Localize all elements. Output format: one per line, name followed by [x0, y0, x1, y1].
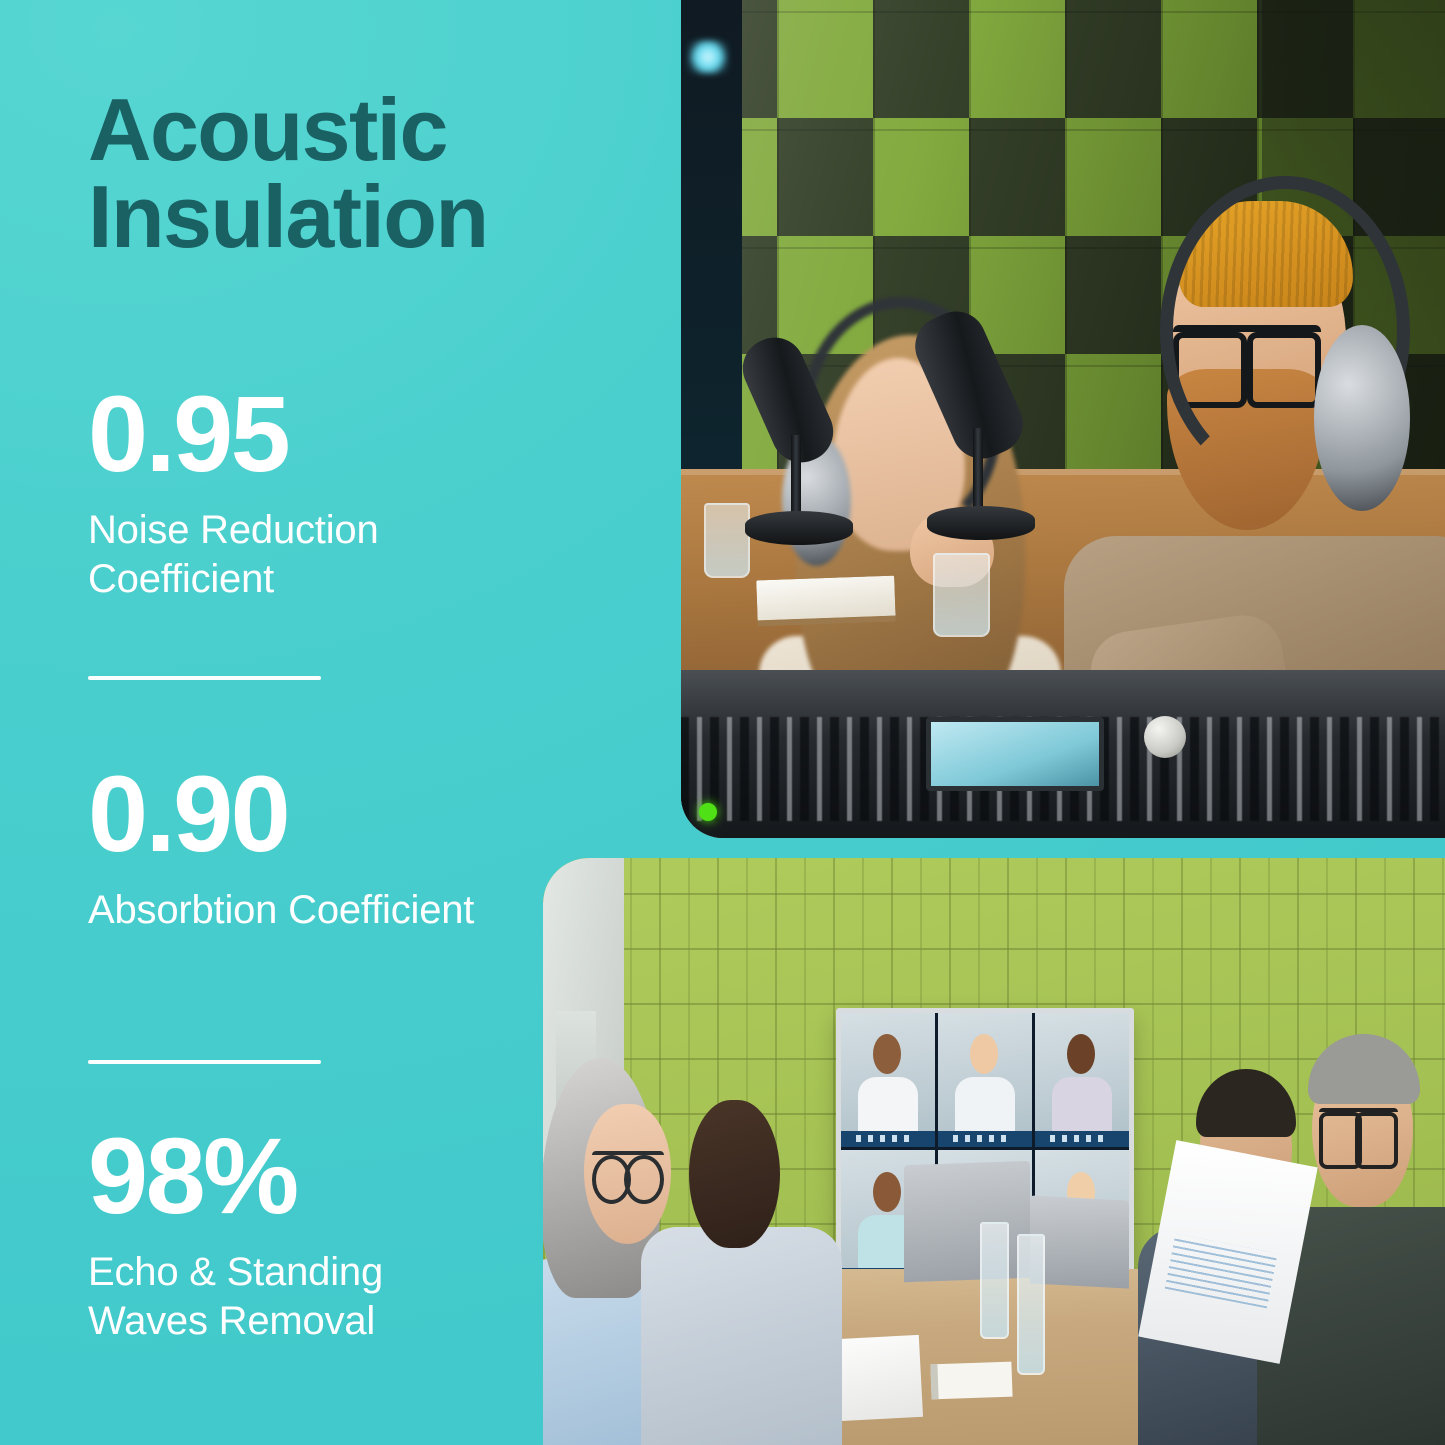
stat-block-noise-reduction: 0.95 Noise Reduction Coefficient [88, 380, 628, 604]
attendee-man-dark-hair [660, 1093, 822, 1445]
water-glass-left [704, 503, 750, 578]
video-call-tile [1035, 1013, 1129, 1147]
stat-label-absorption: Absorbtion Coefficient [88, 886, 508, 935]
divider-line-2 [88, 1060, 321, 1064]
video-tile-toolbar [938, 1131, 1032, 1147]
neon-light-icon [687, 40, 729, 74]
mixing-console [681, 670, 1445, 838]
participant-head [1067, 1034, 1095, 1074]
participant-head [873, 1172, 901, 1212]
stat-value-noise-reduction: 0.95 [88, 380, 628, 488]
headline-line-2: Insulation [88, 173, 648, 260]
console-display-screen [926, 717, 1104, 791]
water-glass-2 [1017, 1234, 1046, 1375]
attendee-man-gray-hair [1283, 1034, 1445, 1445]
water-glass-1 [980, 1222, 1009, 1339]
microphone-stand [973, 428, 983, 510]
eyeglasses-icon [592, 1151, 664, 1178]
attendee-shirt [641, 1227, 842, 1445]
participant-head [970, 1034, 998, 1074]
stat-value-absorption: 0.90 [88, 760, 628, 868]
participant-head [873, 1034, 901, 1074]
infographic-canvas: Acoustic Insulation 0.95 Noise Reduction… [0, 0, 1445, 1445]
microphone-base [745, 511, 853, 545]
page-title: Acoustic Insulation [88, 86, 648, 260]
photo-conference-room [543, 858, 1445, 1445]
stat-label-echo-removal: Echo & Standing Waves Removal [88, 1248, 508, 1346]
attendee-hair [1308, 1034, 1420, 1104]
attendee-head [689, 1100, 780, 1248]
video-call-tile [938, 1013, 1032, 1147]
spiral-notepad [930, 1361, 1012, 1399]
video-call-tile [841, 1013, 935, 1147]
microphone-base [927, 506, 1035, 540]
laptop-left [904, 1161, 1030, 1283]
open-notebook [757, 576, 896, 627]
photo-podcast-studio [681, 0, 1445, 838]
microphone-stand [791, 435, 801, 515]
divider-line-1 [88, 676, 321, 680]
headphones-cup-icon [1314, 325, 1410, 511]
video-tile-toolbar [1035, 1131, 1129, 1147]
video-tile-toolbar [841, 1131, 935, 1147]
participant-body [955, 1077, 1015, 1133]
stat-label-noise-reduction: Noise Reduction Coefficient [88, 506, 508, 604]
eyeglasses-icon [1319, 1108, 1398, 1141]
headline-line-1: Acoustic [88, 80, 447, 179]
console-jog-knob-icon [1144, 716, 1186, 758]
attendee-hair [1196, 1069, 1295, 1137]
participant-body [1052, 1077, 1112, 1133]
water-glass-center [933, 553, 990, 637]
wall-dark-left [681, 0, 742, 536]
participant-body [858, 1077, 918, 1133]
